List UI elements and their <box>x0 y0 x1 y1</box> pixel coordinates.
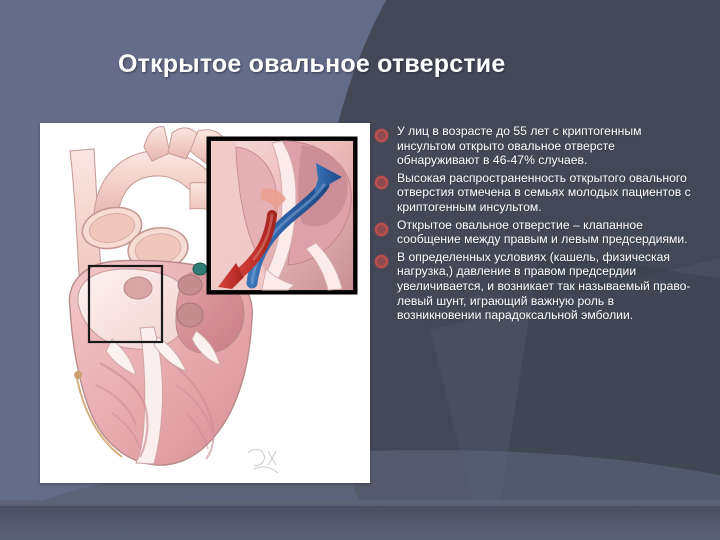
ring-bullet-icon <box>375 176 388 189</box>
list-item: В определенных условиях (кашель, физичес… <box>375 250 695 323</box>
bullet-text: У лиц в возрасте до 55 лет с криптогенны… <box>397 124 695 168</box>
ring-bullet-icon <box>375 255 388 268</box>
bullet-list: У лиц в возрасте до 55 лет с криптогенны… <box>375 124 695 326</box>
heart-cross-section-image <box>40 123 370 483</box>
list-item: У лиц в возрасте до 55 лет с криптогенны… <box>375 124 695 168</box>
background-bottom-band-gradient <box>0 506 720 540</box>
bullet-text: В определенных условиях (кашель, физичес… <box>397 250 695 323</box>
presentation-slide: Открытое овальное отверстие <box>0 0 720 540</box>
slide-title: Открытое овальное отверстие <box>118 50 678 79</box>
heart-illustration <box>40 123 370 483</box>
ring-bullet-icon <box>375 129 388 142</box>
ring-bullet-icon <box>375 223 388 236</box>
bullet-text: Открытое овальное отверстие – клапанное … <box>397 218 695 247</box>
list-item: Открытое овальное отверстие – клапанное … <box>375 218 695 247</box>
bullet-text: Высокая распространенность открытого ова… <box>397 171 695 215</box>
list-item: Высокая распространенность открытого ова… <box>375 171 695 215</box>
